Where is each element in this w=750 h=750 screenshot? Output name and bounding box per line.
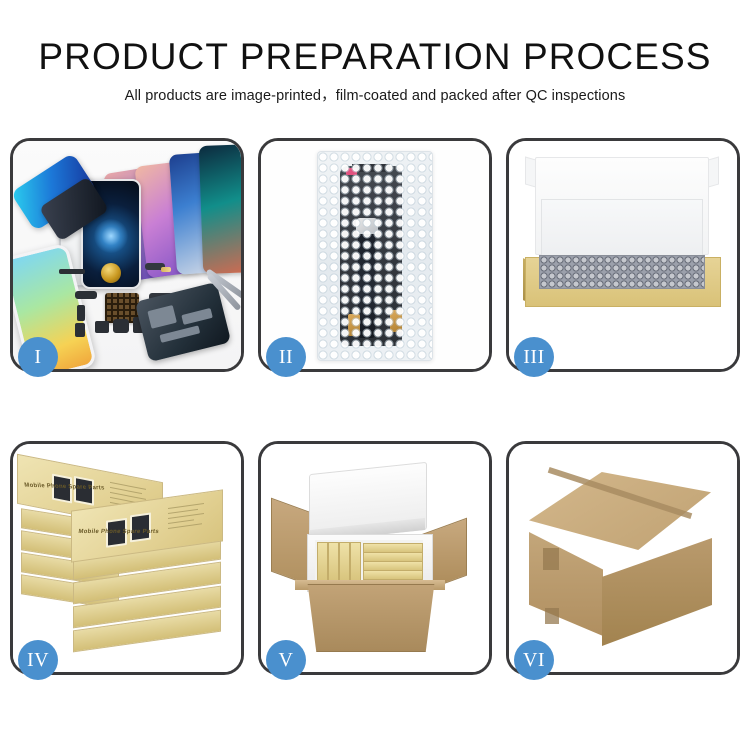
bubble-wrap-bag (317, 151, 433, 361)
carton-right-face (602, 538, 712, 646)
sim-tray-part (75, 323, 85, 337)
step-panel-6[interactable]: VI (506, 441, 740, 675)
step-badge-4: IV (18, 640, 58, 680)
step-image-4: Mobile Phone Spare Parts Mobile Phone Sp… (13, 444, 241, 672)
camera-module-part (95, 321, 109, 333)
product-assortment-illustration (13, 141, 241, 369)
page-subtitle: All products are image-printed，film-coat… (0, 84, 750, 105)
inner-box-illustration (509, 141, 737, 369)
step-badge-6: VI (514, 640, 554, 680)
gold-connector-part (161, 267, 171, 272)
coil-part-icon (101, 263, 121, 283)
carton-tape-bottom (545, 608, 559, 624)
page-title: PRODUCT PREPARATION PROCESS (0, 36, 750, 78)
step-image-2 (261, 141, 489, 369)
packed-box-3 (339, 542, 350, 582)
carton-packing-illustration (261, 444, 489, 672)
packed-box-2 (328, 542, 339, 582)
sealed-carton-illustration (509, 444, 737, 672)
step-panel-1[interactable]: I (10, 138, 244, 372)
step-panel-2[interactable]: II (258, 138, 492, 372)
step-image-5 (261, 444, 489, 672)
packed-box-8 (363, 570, 423, 580)
step-panel-4[interactable]: Mobile Phone Spare Parts Mobile Phone Sp… (10, 441, 244, 675)
vibrator-part (113, 319, 129, 333)
bubble-texture (318, 152, 432, 360)
step-panel-3[interactable]: III (506, 138, 740, 372)
bubble-wrapped-contents (539, 255, 705, 289)
step-badge-5: V (266, 640, 306, 680)
carton-left-face (529, 532, 603, 636)
packed-box-1 (317, 542, 328, 582)
box-window-b2 (130, 512, 151, 542)
header: PRODUCT PREPARATION PROCESS All products… (0, 0, 750, 118)
side-button-part (77, 305, 85, 321)
bubble-wrap-illustration (261, 141, 489, 369)
box-label-front: Mobile Phone Spare Parts (78, 529, 159, 535)
step-badge-1: I (18, 337, 58, 377)
phone-screen-d (199, 144, 241, 274)
carton-tape-top (543, 548, 559, 570)
packed-box-4 (350, 542, 361, 582)
box-stack-illustration: Mobile Phone Spare Parts Mobile Phone Sp… (13, 444, 241, 672)
step-badge-3: III (514, 337, 554, 377)
step-badge-2: II (266, 337, 306, 377)
poster-root: PRODUCT PREPARATION PROCESS All products… (0, 0, 750, 750)
steps-grid: I II (10, 138, 740, 683)
step-image-6 (509, 444, 737, 672)
step-image-1 (13, 141, 241, 369)
carton-front-wall (299, 584, 443, 652)
step-panel-5[interactable]: V (258, 441, 492, 675)
step-image-3 (509, 141, 737, 369)
button-flex-part (75, 291, 97, 299)
speaker-mesh-part (59, 269, 85, 274)
